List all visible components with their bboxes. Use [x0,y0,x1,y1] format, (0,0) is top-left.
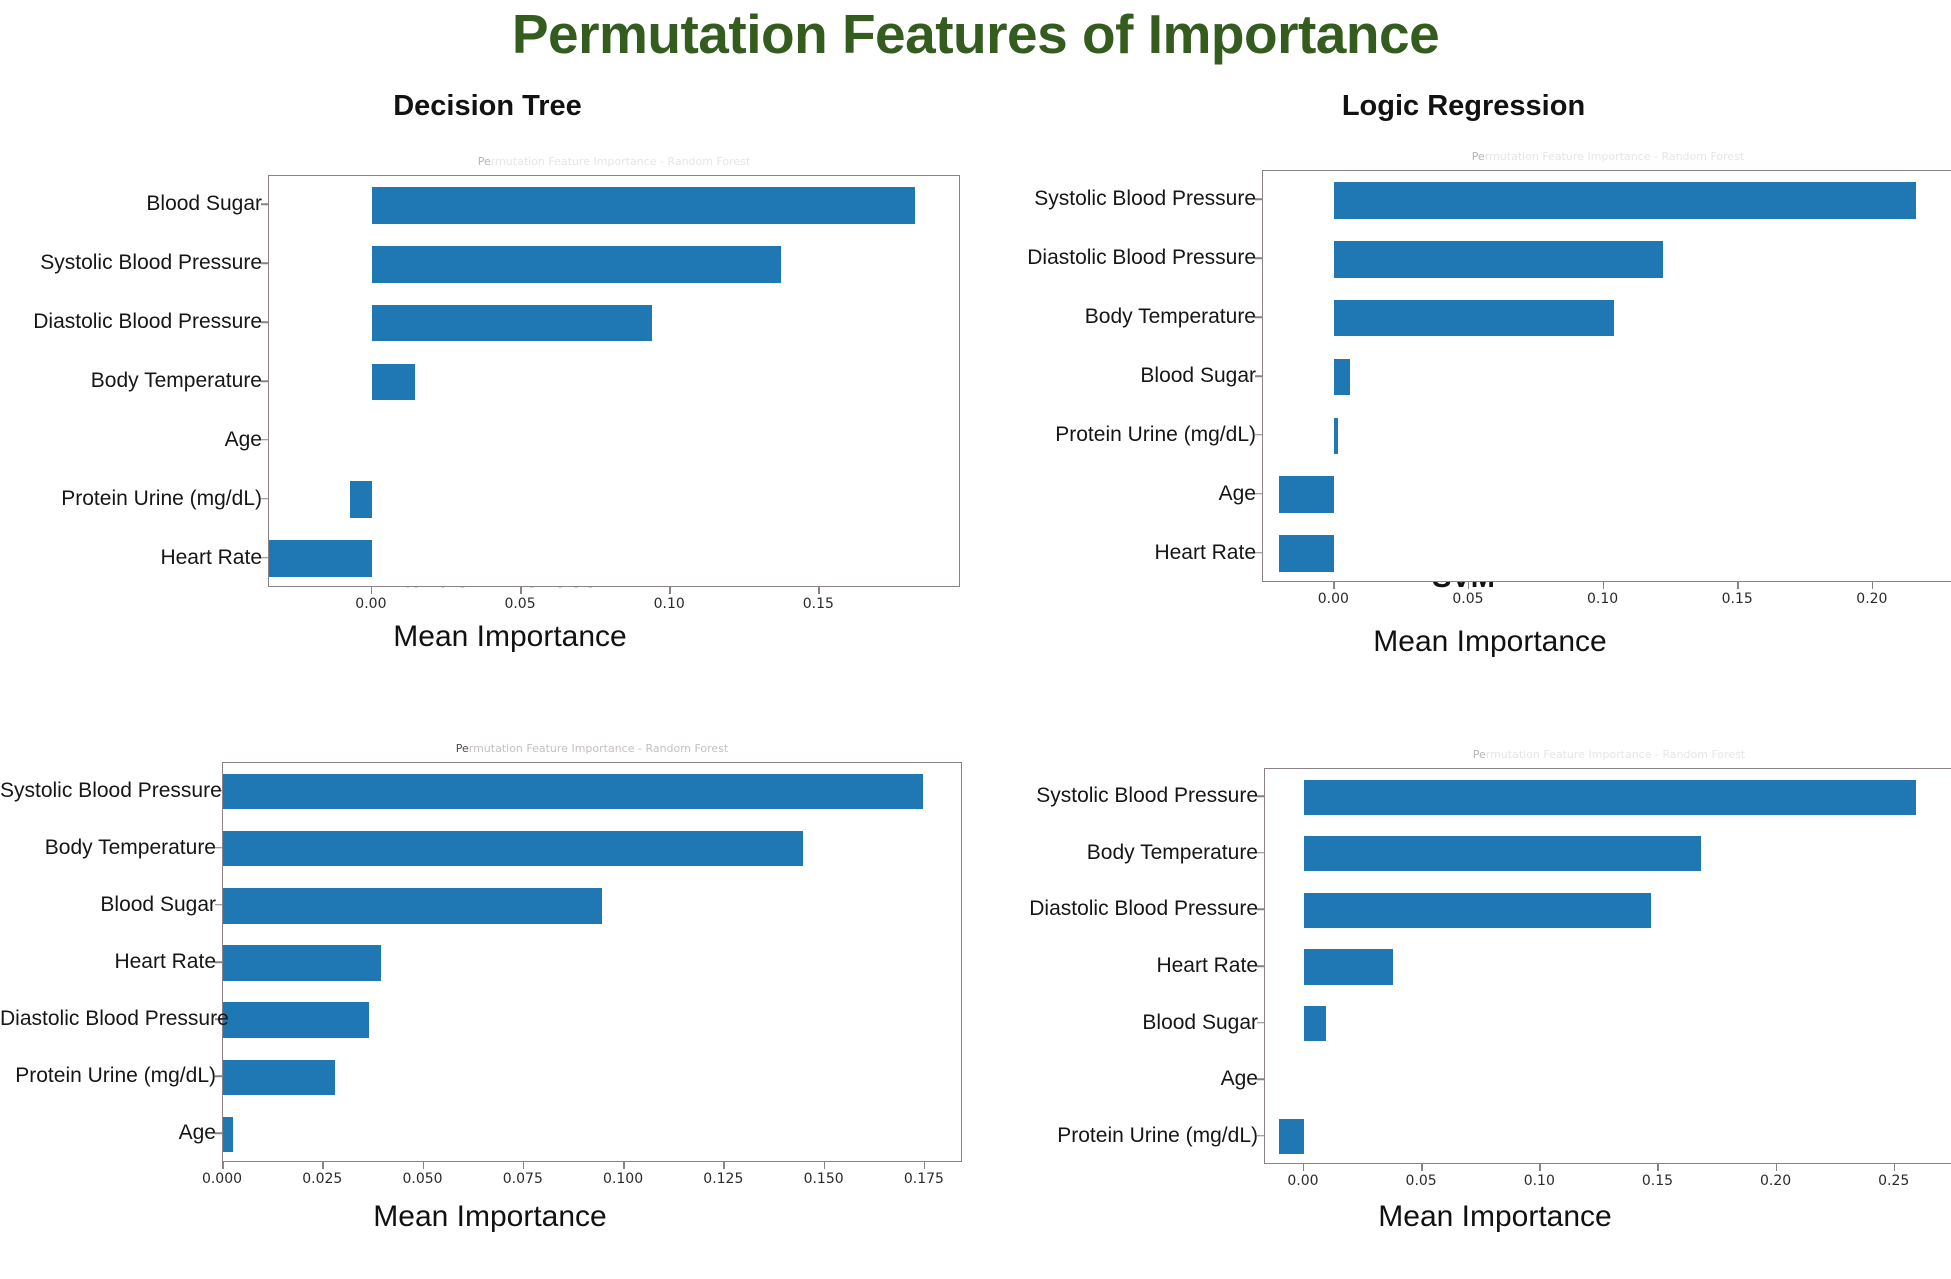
x-tick-mark [322,1162,324,1169]
x-tick-label: 0.05 [1452,591,1483,607]
y-tick-mark [1255,316,1262,318]
x-tick-mark [222,1162,224,1169]
y-axis-label: Blood Sugar [0,364,1256,388]
y-axis-label: Blood Sugar [0,1011,1258,1035]
bar [1304,780,1916,815]
y-tick-mark [1257,965,1264,967]
y-tick-mark [1257,1078,1264,1080]
x-tick-mark [371,587,373,594]
bar [1304,1006,1326,1041]
y-axis-label: Diastolic Blood Pressure [0,897,1258,921]
x-tick-mark [1737,582,1739,589]
y-axis-label: Age [0,482,1256,506]
plot-area-svm [1265,769,1951,1163]
x-tick-label: 0.10 [1524,1173,1555,1189]
x-tick-mark [824,1162,826,1169]
x-axis-ticks-decision-tree: 0.000.050.100.15 [268,587,960,621]
y-tick-mark [1255,258,1262,260]
figure-suptitle-random-forest: Permutation Feature Importance - Random … [222,742,962,755]
y-axis-label: Heart Rate [0,954,1258,978]
x-tick-label: 0.00 [1287,1173,1318,1189]
y-axis-label: Protein Urine (mg/dL) [0,1124,1258,1148]
bar [1279,476,1334,512]
x-tick-mark [1421,1164,1423,1171]
plot-axes-logic-regression [1262,170,1951,582]
y-tick-mark [1255,552,1262,554]
x-tick-label: 0.125 [703,1171,743,1187]
slide-root: Permutation Features of Importance Decis… [0,0,1951,1279]
x-tick-label: 0.10 [654,596,685,612]
x-tick-label: 0.075 [503,1171,543,1187]
y-tick-mark [1255,375,1262,377]
bar [1334,300,1614,336]
bar [1279,1119,1304,1154]
y-tick-mark [1255,493,1262,495]
x-tick-mark [1468,582,1470,589]
x-tick-mark [669,587,671,594]
y-tick-mark [1257,1022,1264,1024]
x-axis-ticks-random-forest: 0.0000.0250.0500.0750.1000.1250.1500.175 [222,1162,962,1196]
x-tick-mark [1657,1164,1659,1171]
chart-title-logic-regression: Logic Regression [976,90,1951,123]
x-axis-title-random-forest: Mean Importance [120,1200,860,1234]
x-tick-label: 0.20 [1760,1173,1791,1189]
x-tick-mark [1872,582,1874,589]
x-tick-label: 0.150 [804,1171,844,1187]
x-axis-title-svm: Mean Importance [1150,1200,1840,1234]
x-tick-mark [520,587,522,594]
plot-axes-svm [1264,768,1951,1164]
x-axis-title-decision-tree: Mean Importance [160,620,860,654]
x-axis-ticks-logic-regression: 0.000.050.100.150.20 [1262,582,1951,616]
x-tick-label: 0.00 [1318,591,1349,607]
y-tick-mark [1255,199,1262,201]
x-tick-mark [723,1162,725,1169]
x-tick-mark [1894,1164,1896,1171]
y-axis-label: Protein Urine (mg/dL) [0,423,1256,447]
x-tick-mark [1603,582,1605,589]
bar [1334,182,1916,218]
x-tick-label: 0.05 [1406,1173,1437,1189]
bar [1304,949,1393,984]
x-tick-label: 0.15 [803,596,834,612]
x-tick-label: 0.25 [1878,1173,1909,1189]
x-tick-label: 0.175 [904,1171,944,1187]
x-tick-mark [423,1162,425,1169]
x-tick-label: 0.10 [1587,591,1618,607]
y-axis-label: Body Temperature [0,841,1258,865]
x-tick-label: 0.100 [603,1171,643,1187]
figure-suptitle-decision-tree: Permutation Feature Importance - Random … [268,155,960,168]
figure-suptitle-logic-regression: Permutation Feature Importance - Random … [1262,150,1951,163]
bar [1334,241,1662,277]
y-tick-mark [1257,852,1264,854]
y-tick-mark [1255,434,1262,436]
x-tick-label: 0.20 [1856,591,1887,607]
x-tick-label: 0.15 [1722,591,1753,607]
x-tick-label: 0.05 [504,596,535,612]
y-axis-label: Systolic Blood Pressure [0,187,1256,211]
y-axis-label: Heart Rate [0,541,1256,565]
y-tick-mark [1257,796,1264,798]
y-axis-label: Body Temperature [0,305,1256,329]
figure-suptitle-svm: Permutation Feature Importance - Random … [1264,748,1951,761]
x-axis-ticks-svm: 0.000.050.100.150.200.25 [1264,1164,1951,1198]
bar [1304,893,1651,928]
y-axis-label: Age [0,1067,1258,1091]
bar [1279,535,1334,571]
bar [1334,418,1338,454]
bar [1304,836,1701,871]
x-tick-mark [818,587,820,594]
x-tick-mark [523,1162,525,1169]
y-axis-label: Systolic Blood Pressure [0,784,1258,808]
y-axis-label: Diastolic Blood Pressure [0,246,1256,270]
x-tick-label: 0.025 [302,1171,342,1187]
x-tick-mark [1333,582,1335,589]
y-tick-mark [1257,1135,1264,1137]
x-tick-label: 0.00 [355,596,386,612]
x-tick-label: 0.15 [1642,1173,1673,1189]
x-tick-mark [623,1162,625,1169]
plot-area-logic-regression [1263,171,1951,581]
page-title: Permutation Features of Importance [0,2,1951,66]
bar [1334,359,1350,395]
x-tick-mark [1776,1164,1778,1171]
x-tick-mark [1539,1164,1541,1171]
y-tick-mark [1257,909,1264,911]
x-tick-mark [1303,1164,1305,1171]
x-tick-label: 0.050 [402,1171,442,1187]
x-tick-label: 0.000 [202,1171,242,1187]
x-axis-title-logic-regression: Mean Importance [1140,625,1840,659]
x-tick-mark [924,1162,926,1169]
